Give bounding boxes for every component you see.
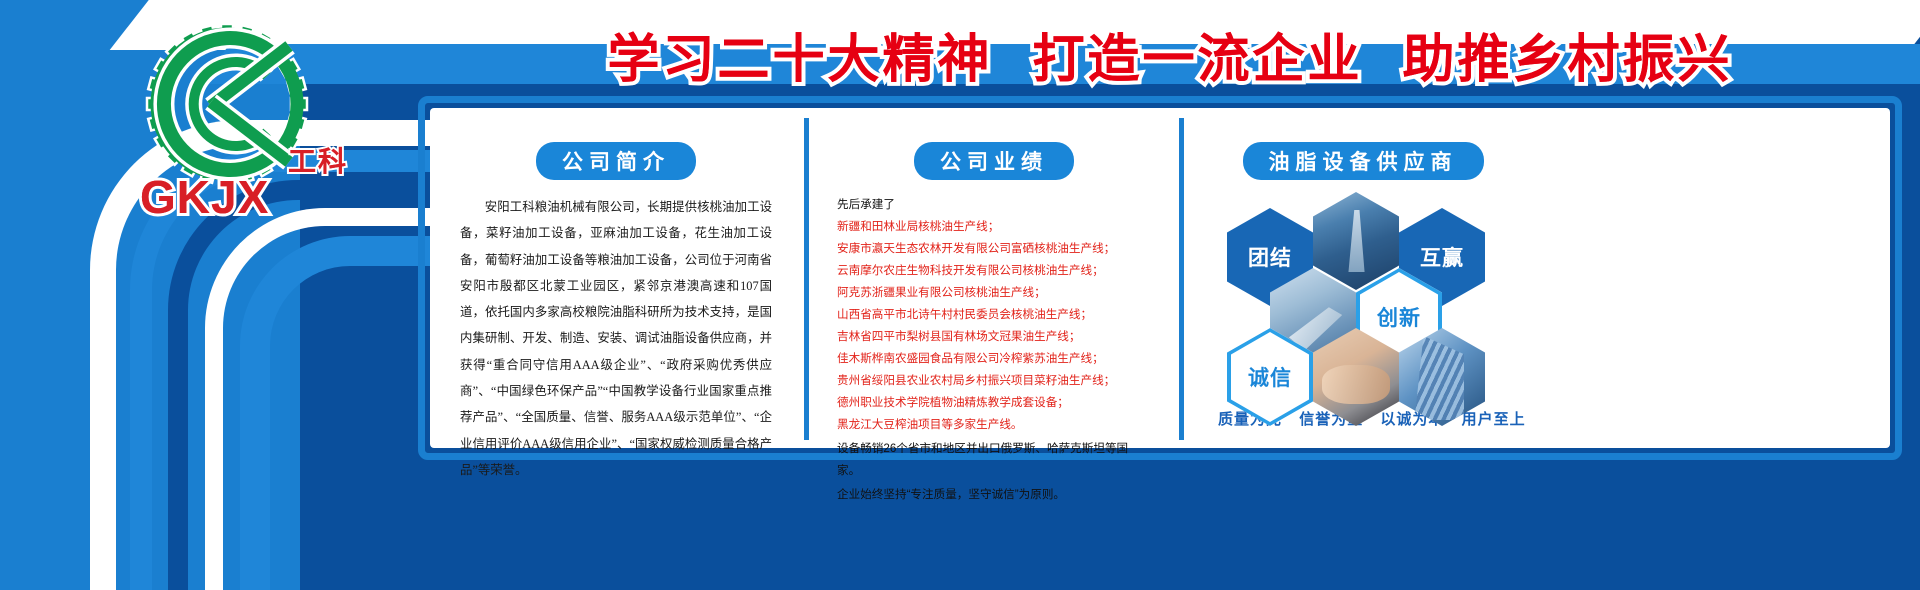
panel-performance-tail-2: 企业始终坚持“专注质量，坚守诚信”为原则。: [837, 484, 1151, 506]
list-item: 德州职业技术学院植物油精炼教学成套设备；: [837, 392, 1151, 414]
list-item: 安康市瀛天生态农林开发有限公司富硒核桃油生产线；: [837, 238, 1151, 260]
banner-title-segment-3-fill: 助推乡村振兴: [1403, 17, 1733, 92]
panel-supplier: 油脂设备供应商 团结 互赢 创新 诚信 质量为先 信誉为重 以诚为本 用: [1198, 118, 1528, 440]
slogan-part-4: 用户至上: [1462, 411, 1526, 428]
panel-performance-tail-1: 设备畅销26个省市和地区并出口俄罗斯、哈萨克斯坦等国家。: [837, 438, 1151, 482]
list-item: 阿克苏浙疆果业有限公司核桃油生产线；: [837, 282, 1151, 304]
panel-company-intro-heading: 公司简介: [536, 142, 696, 180]
panel-supplier-heading-wrap: 油脂设备供应商: [1212, 124, 1514, 194]
content-panels: 公司简介 安阳工科粮油机械有限公司，长期提供核桃油加工设备，菜籽油加工设备，亚麻…: [442, 118, 1878, 440]
banner-title-segment-2: 打造一流企业 打造一流企业: [1032, 17, 1362, 92]
company-logo: 工科 工科 GKJX GKJX: [112, 22, 342, 212]
list-item: 新疆和田林业局核桃油生产线；: [837, 216, 1151, 238]
hex-label-huying: 互赢: [1420, 242, 1464, 272]
logo-chinese-text: 工科: [288, 140, 348, 180]
panel-company-intro: 公司简介 安阳工科粮油机械有限公司，长期提供核桃油加工设备，菜籽油加工设备，亚麻…: [442, 118, 790, 440]
list-item: 吉林省四平市梨树县国有林场文冠果油生产线；: [837, 326, 1151, 348]
hex-label-chengxin: 诚信: [1248, 362, 1292, 392]
hexagon-cluster: 团结 互赢 创新 诚信: [1213, 198, 1513, 394]
list-item: 山西省高平市北诗午村村民委员会核桃油生产线；: [837, 304, 1151, 326]
panel-performance-project-list: 新疆和田林业局核桃油生产线； 安康市瀛天生态农林开发有限公司富硒核桃油生产线； …: [837, 216, 1151, 436]
panel-performance-lead: 先后承建了: [837, 194, 1151, 216]
hex-label-tuanjie: 团结: [1248, 242, 1292, 272]
panel-supplier-heading: 油脂设备供应商: [1243, 142, 1484, 180]
hex-label-chuangxin: 创新: [1377, 302, 1421, 332]
logo-latin-wrap: GKJX GKJX: [140, 170, 269, 224]
panel-company-intro-body: 安阳工科粮油机械有限公司，长期提供核桃油加工设备，菜籽油加工设备，亚麻油加工设备…: [456, 194, 776, 483]
panel-divider-2: [1179, 118, 1184, 440]
banner-title-segment-1-fill: 学习二十大精神: [607, 17, 992, 92]
list-item: 云南摩尔农庄生物科技开发有限公司核桃油生产线；: [837, 260, 1151, 282]
panel-performance-heading: 公司业绩: [914, 142, 1074, 180]
panel-company-intro-heading-wrap: 公司简介: [456, 124, 776, 194]
logo-latin-text: GKJX: [140, 170, 269, 224]
hex-photo-carrier: [1313, 192, 1399, 290]
panel-performance-heading-wrap: 公司业绩: [837, 124, 1151, 194]
list-item: 黑龙江大豆榨油项目等多家生产线。: [837, 414, 1151, 436]
banner-title: 学习二十大精神 学习二十大精神 打造一流企业 打造一流企业 助推乡村振兴 助推乡…: [430, 18, 1910, 90]
banner-title-segment-2-fill: 打造一流企业: [1032, 17, 1362, 92]
list-item: 佳木斯桦南农盛园食品有限公司冷榨紫苏油生产线；: [837, 348, 1151, 370]
panel-divider-1: [804, 118, 809, 440]
list-item: 贵州省绥阳县农业农村局乡村振兴项目菜籽油生产线；: [837, 370, 1151, 392]
banner-title-segment-3: 助推乡村振兴 助推乡村振兴: [1403, 17, 1733, 92]
banner-title-segment-1: 学习二十大精神 学习二十大精神: [607, 17, 992, 92]
panel-performance: 公司业绩 先后承建了 新疆和田林业局核桃油生产线； 安康市瀛天生态农林开发有限公…: [823, 118, 1165, 440]
